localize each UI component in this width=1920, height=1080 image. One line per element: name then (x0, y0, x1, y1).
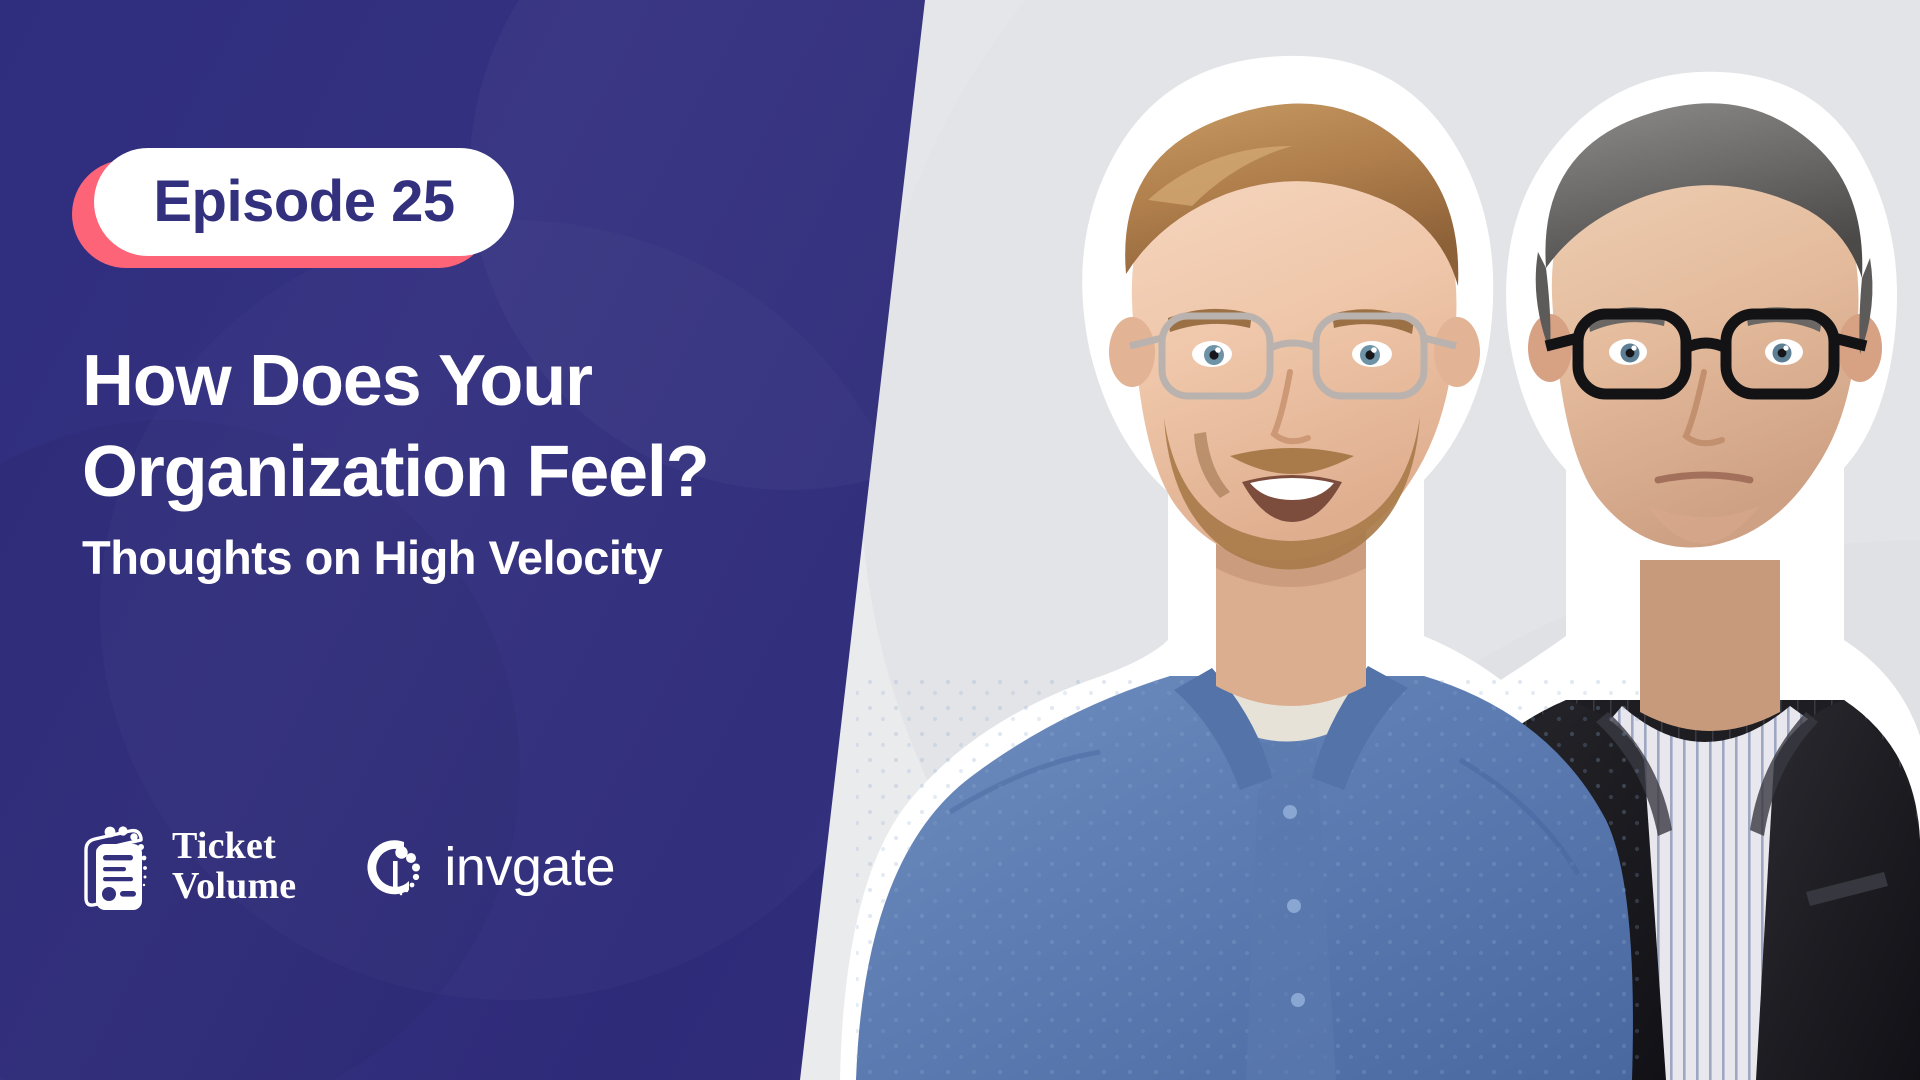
title-line-2: Organization Feel? (82, 427, 842, 518)
episode-badge-label: Episode 25 (153, 173, 454, 231)
invgate-logo[interactable]: invgate (362, 834, 615, 900)
invgate-wordmark: invgate (444, 840, 615, 894)
logo-row: Ticket Volume (80, 822, 615, 912)
episode-badge: Episode 25 (72, 148, 502, 270)
ticket-volume-logo[interactable]: Ticket Volume (80, 822, 296, 912)
subtitle: Thoughts on High Velocity (82, 529, 842, 588)
ticket-volume-line-1: Ticket (172, 827, 296, 867)
episode-badge-pill: Episode 25 (94, 148, 514, 256)
guests-photo (760, 0, 1920, 1080)
ticket-volume-wordmark: Ticket Volume (172, 827, 296, 906)
title-line-1: How Does Your (82, 336, 842, 427)
invgate-spiral-icon (362, 834, 428, 900)
episode-cover: Episode 25 How Does Your Organization Fe… (0, 0, 1920, 1080)
ticket-document-icon (80, 822, 156, 912)
headline-block: How Does Your Organization Feel? Thought… (82, 336, 842, 588)
ticket-volume-line-2: Volume (172, 867, 296, 907)
